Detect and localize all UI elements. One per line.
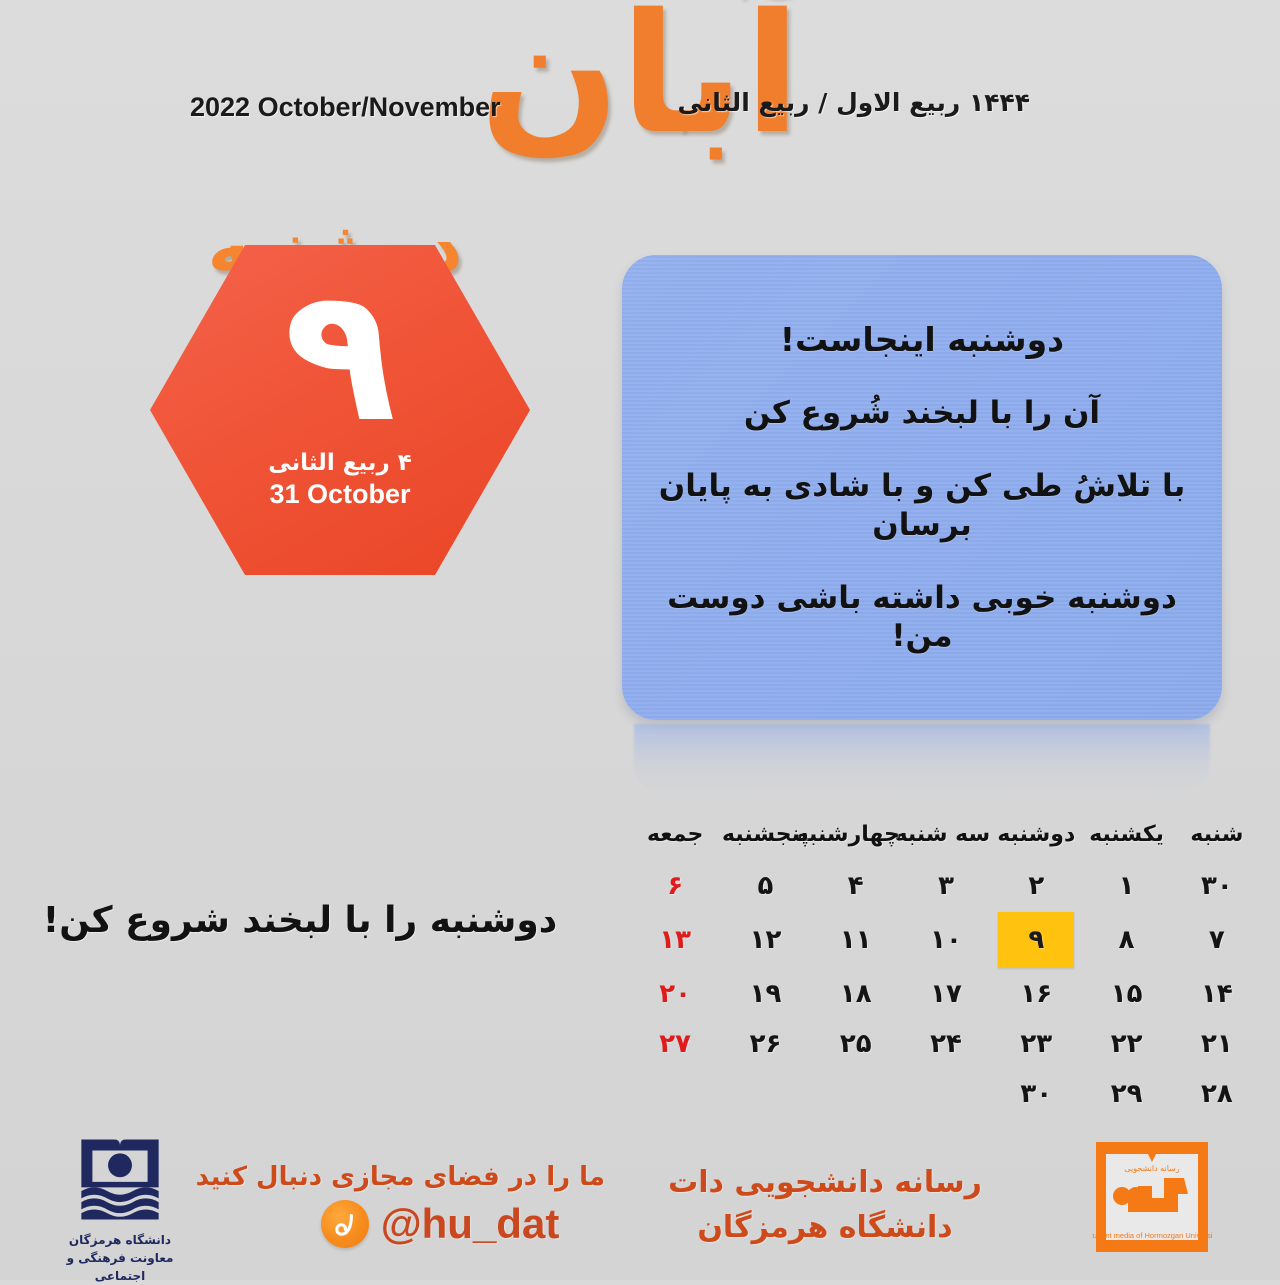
card-reflection <box>634 724 1210 794</box>
calendar-day-cell[interactable]: ۲۸ <box>1172 1069 1262 1119</box>
university-name: دانشگاه هرمزگان <box>50 1231 190 1249</box>
calendar-day-cell[interactable]: ۳ <box>901 861 991 911</box>
calendar-day-cell[interactable]: ۱۷ <box>901 969 991 1019</box>
message-card-area: دوشنبه اینجاست! آن را با لبخند شُروع کن … <box>612 250 1252 810</box>
calendar-day-cell[interactable]: ۱۸ <box>811 969 901 1019</box>
calendar-week-row: ۲۱۲۲۲۳۲۴۲۵۲۶۲۷ <box>630 1019 1262 1069</box>
month-calendar: شنبه یکشنبه دوشنبه سه شنبه چهارشنبه پنجش… <box>612 812 1262 1119</box>
calendar-day-cell[interactable]: ۲۰ <box>630 969 720 1019</box>
calendar-day-cell[interactable]: ۱۵ <box>1081 969 1171 1019</box>
calendar-day-cell[interactable]: ۲۹ <box>1081 1069 1171 1119</box>
calendar-day-cell[interactable]: ۱۶ <box>991 969 1081 1019</box>
calendar-day-cell[interactable]: ۲۴ <box>901 1019 991 1069</box>
message-line-1: دوشنبه اینجاست! <box>648 319 1196 360</box>
calendar-header-row: شنبه یکشنبه دوشنبه سه شنبه چهارشنبه پنجش… <box>630 812 1262 861</box>
calendar-day-cell <box>811 1069 901 1119</box>
calendar-day-cell[interactable]: ۲۳ <box>991 1019 1081 1069</box>
calendar-day-cell[interactable]: ۸ <box>1081 911 1171 969</box>
calendar-day-today[interactable]: ۹ <box>991 911 1081 969</box>
student-media-line1: رسانه دانشجویی دات <box>640 1160 1010 1205</box>
calendar-header-cell: چهارشنبه <box>811 812 901 861</box>
calendar-week-row: ۷۸۹۱۰۱۱۱۲۱۳ <box>630 911 1262 969</box>
today-hexagon: ۹ ۴ ربیع الثانی 31 October <box>150 245 530 575</box>
today-highlight: ۹ <box>998 912 1074 968</box>
calendar-day-cell[interactable]: ۴ <box>811 861 901 911</box>
calendar-week-row: ۲۸۲۹۳۰ <box>630 1069 1262 1119</box>
calendar-day-cell[interactable]: ۱ <box>1081 861 1171 911</box>
calendar-table: شنبه یکشنبه دوشنبه سه شنبه چهارشنبه پنجش… <box>630 812 1262 1119</box>
message-card: دوشنبه اینجاست! آن را با لبخند شُروع کن … <box>622 255 1222 720</box>
hexagon-shape: ۹ ۴ ربیع الثانی 31 October <box>150 245 530 575</box>
calendar-poster: آبان 2022 October/November ۱۴۴۴ ربیع الا… <box>0 0 1280 1280</box>
calendar-day-cell[interactable]: ۲۵ <box>811 1019 901 1069</box>
calendar-day-cell[interactable]: ۲۷ <box>630 1019 720 1069</box>
student-media-line2: دانشگاه هرمزگان <box>640 1205 1010 1250</box>
calendar-header-cell: جمعه <box>630 812 720 861</box>
calendar-day-cell[interactable]: ۳۰ <box>1172 861 1262 911</box>
calendar-day-cell[interactable]: ۱۲ <box>720 911 810 969</box>
dat-logo-icon: رسانه دانشجویی Student media of Hormozga… <box>1092 1138 1212 1256</box>
social-handle[interactable]: @hu_dat <box>381 1200 560 1248</box>
calendar-day-cell <box>901 1069 991 1119</box>
tagline: دوشنبه را با لبخند شروع کن! <box>0 900 600 941</box>
calendar-day-cell[interactable]: ۱۹ <box>720 969 810 1019</box>
gregorian-range: 2022 October/November <box>190 92 501 123</box>
svg-text:رسانه دانشجویی: رسانه دانشجویی <box>1124 1164 1180 1173</box>
student-media-name: رسانه دانشجویی دات دانشگاه هرمزگان <box>640 1160 1010 1250</box>
calendar-day-cell[interactable]: ۵ <box>720 861 810 911</box>
calendar-day-cell[interactable]: ۲۶ <box>720 1019 810 1069</box>
message-line-3: با تلاشُ طی کن و با شادی به پایان برسان <box>648 467 1196 545</box>
hexagon-subtext: ۴ ربیع الثانی 31 October <box>268 450 412 510</box>
calendar-day-cell[interactable]: ۲ <box>991 861 1081 911</box>
poster-header: آبان 2022 October/November ۱۴۴۴ ربیع الا… <box>0 0 1280 200</box>
message-line-2: آن را با لبخند شُروع کن <box>648 394 1196 433</box>
university-logo-caption: دانشگاه هرمزگان معاونت فرهنگی و اجتماعی <box>50 1231 190 1285</box>
calendar-day-cell[interactable]: ۲۲ <box>1081 1019 1171 1069</box>
calendar-header-cell: دوشنبه <box>991 812 1081 861</box>
calendar-body: ۳۰۱۲۳۴۵۶۷۸۹۱۰۱۱۱۲۱۳۱۴۱۵۱۶۱۷۱۸۱۹۲۰۲۱۲۲۲۳۲… <box>630 861 1262 1119</box>
university-emblem-icon <box>74 1134 166 1226</box>
calendar-day-cell[interactable]: ۱۴ <box>1172 969 1262 1019</box>
calendar-day-cell[interactable]: ۱۱ <box>811 911 901 969</box>
calendar-header-cell: یکشنبه <box>1081 812 1171 861</box>
calendar-day-cell[interactable]: ۳۰ <box>991 1069 1081 1119</box>
follow-us-text: ما را در فضای مجازی دنبال کنید <box>275 1162 605 1192</box>
calendar-day-cell <box>720 1069 810 1119</box>
university-logo: دانشگاه هرمزگان معاونت فرهنگی و اجتماعی <box>50 1134 190 1285</box>
hijri-range: ۱۴۴۴ ربیع الاول / ربیع الثانی <box>678 88 1030 117</box>
social-handle-row[interactable]: @hu_dat <box>275 1200 605 1248</box>
calendar-day-cell[interactable]: ۲۱ <box>1172 1019 1262 1069</box>
calendar-day-cell[interactable]: ۱۰ <box>901 911 991 969</box>
today-gregorian-date: 31 October <box>268 478 412 510</box>
svg-text:Student media of Hormozgan Uni: Student media of Hormozgan University <box>1092 1231 1212 1240</box>
today-hijri-date: ۴ ربیع الثانی <box>268 450 412 478</box>
calendar-day-cell[interactable]: ۶ <box>630 861 720 911</box>
eitaa-icon[interactable] <box>321 1200 369 1248</box>
follow-us-block: ما را در فضای مجازی دنبال کنید @hu_dat <box>275 1162 605 1248</box>
poster-footer: دانشگاه هرمزگان معاونت فرهنگی و اجتماعی … <box>0 1120 1280 1280</box>
month-title: آبان <box>0 0 1280 157</box>
calendar-day-cell[interactable]: ۷ <box>1172 911 1262 969</box>
calendar-header-cell: سه شنبه <box>901 812 991 861</box>
calendar-header-cell: شنبه <box>1172 812 1262 861</box>
today-day-number: ۹ <box>284 263 397 448</box>
calendar-header-cell: پنجشنبه <box>720 812 810 861</box>
calendar-day-cell[interactable]: ۱۳ <box>630 911 720 969</box>
calendar-week-row: ۱۴۱۵۱۶۱۷۱۸۱۹۲۰ <box>630 969 1262 1019</box>
calendar-week-row: ۳۰۱۲۳۴۵۶ <box>630 861 1262 911</box>
message-line-4: دوشنبه خوبی داشته باشی دوست من! <box>648 579 1196 657</box>
calendar-day-cell <box>630 1069 720 1119</box>
